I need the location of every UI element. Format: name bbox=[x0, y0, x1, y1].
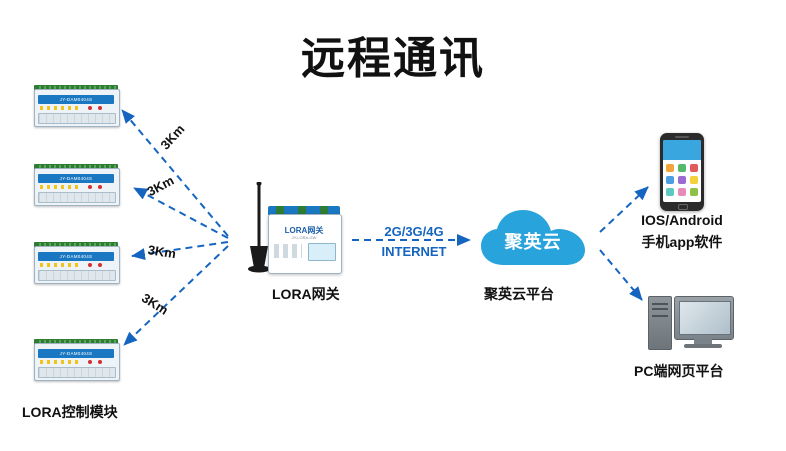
distance-label-2: 3Km bbox=[144, 173, 176, 199]
cloud-name: 聚英云 bbox=[478, 228, 588, 254]
network-label-line1: 2G/3G/4G bbox=[366, 224, 462, 239]
pc-monitor-base bbox=[684, 344, 722, 348]
phone-label-line1: IOS/Android bbox=[624, 212, 740, 228]
gateway-keypad bbox=[274, 244, 302, 258]
module-indicator-dot bbox=[88, 360, 92, 364]
module-indicator-dot bbox=[98, 360, 102, 364]
cloud-label: 聚英云平台 bbox=[484, 284, 554, 304]
module-led-row bbox=[40, 360, 80, 364]
lora-modules-group-label: LORA控制模块 bbox=[22, 402, 118, 422]
lora-module-1[interactable]: JY-DAM0404S bbox=[30, 83, 122, 129]
distance-label-4: 3Km bbox=[139, 290, 171, 318]
gateway-label: LORA网关 bbox=[272, 284, 340, 304]
page-title: 远程通讯 bbox=[0, 22, 786, 86]
lora-module-4[interactable]: JY-DAM0404S bbox=[30, 337, 122, 383]
module-indicator-dot bbox=[98, 106, 102, 110]
module-screw-terminals bbox=[38, 192, 116, 203]
phone-home-button bbox=[678, 204, 688, 210]
lora-gateway-device[interactable]: LORA网关 JY-LORA-GW bbox=[268, 206, 340, 274]
module-screw-terminals bbox=[38, 367, 116, 378]
module-indicator-dot bbox=[98, 185, 102, 189]
phone-app-icons bbox=[666, 164, 698, 198]
module-screw-terminals bbox=[38, 113, 116, 124]
pc-tower bbox=[648, 296, 672, 350]
lora-module-3[interactable]: JY-DAM0404S bbox=[30, 240, 122, 286]
module-indicator-dot bbox=[88, 106, 92, 110]
pc-device[interactable] bbox=[648, 292, 732, 354]
phone-app-header bbox=[663, 140, 701, 160]
module-brand-label: JY-DAM0404S bbox=[38, 252, 114, 261]
pc-monitor bbox=[674, 296, 734, 340]
gateway-display bbox=[308, 243, 336, 261]
module-brand-label: JY-DAM0404S bbox=[38, 95, 114, 104]
phone-screen bbox=[663, 140, 701, 202]
cloud-platform[interactable]: 聚英云 bbox=[478, 208, 588, 270]
module-indicator-dot bbox=[98, 263, 102, 267]
distance-label-3: 3Km bbox=[147, 242, 177, 261]
phone-label-line2: 手机app软件 bbox=[624, 232, 740, 252]
module-brand-label: JY-DAM0404S bbox=[38, 174, 114, 183]
module-led-row bbox=[40, 263, 80, 267]
lora-module-2[interactable]: JY-DAM0404S bbox=[30, 162, 122, 208]
network-label-line2: INTERNET bbox=[366, 244, 462, 259]
pc-screen bbox=[679, 301, 731, 335]
distance-label-1: 3Km bbox=[157, 122, 187, 153]
module-indicator-dot bbox=[88, 263, 92, 267]
module-screw-terminals bbox=[38, 270, 116, 281]
diagram-canvas: 远程通讯 JY-DAM0404S bbox=[0, 0, 786, 451]
module-brand-label: JY-DAM0404S bbox=[38, 349, 114, 358]
smartphone-device[interactable] bbox=[660, 133, 704, 211]
pc-label: PC端网页平台 bbox=[634, 361, 723, 381]
module-led-row bbox=[40, 106, 80, 110]
module-indicator-dot bbox=[88, 185, 92, 189]
module-led-row bbox=[40, 185, 80, 189]
gateway-device-subtitle: JY-LORA-GW bbox=[270, 235, 338, 240]
phone-speaker bbox=[675, 136, 689, 138]
